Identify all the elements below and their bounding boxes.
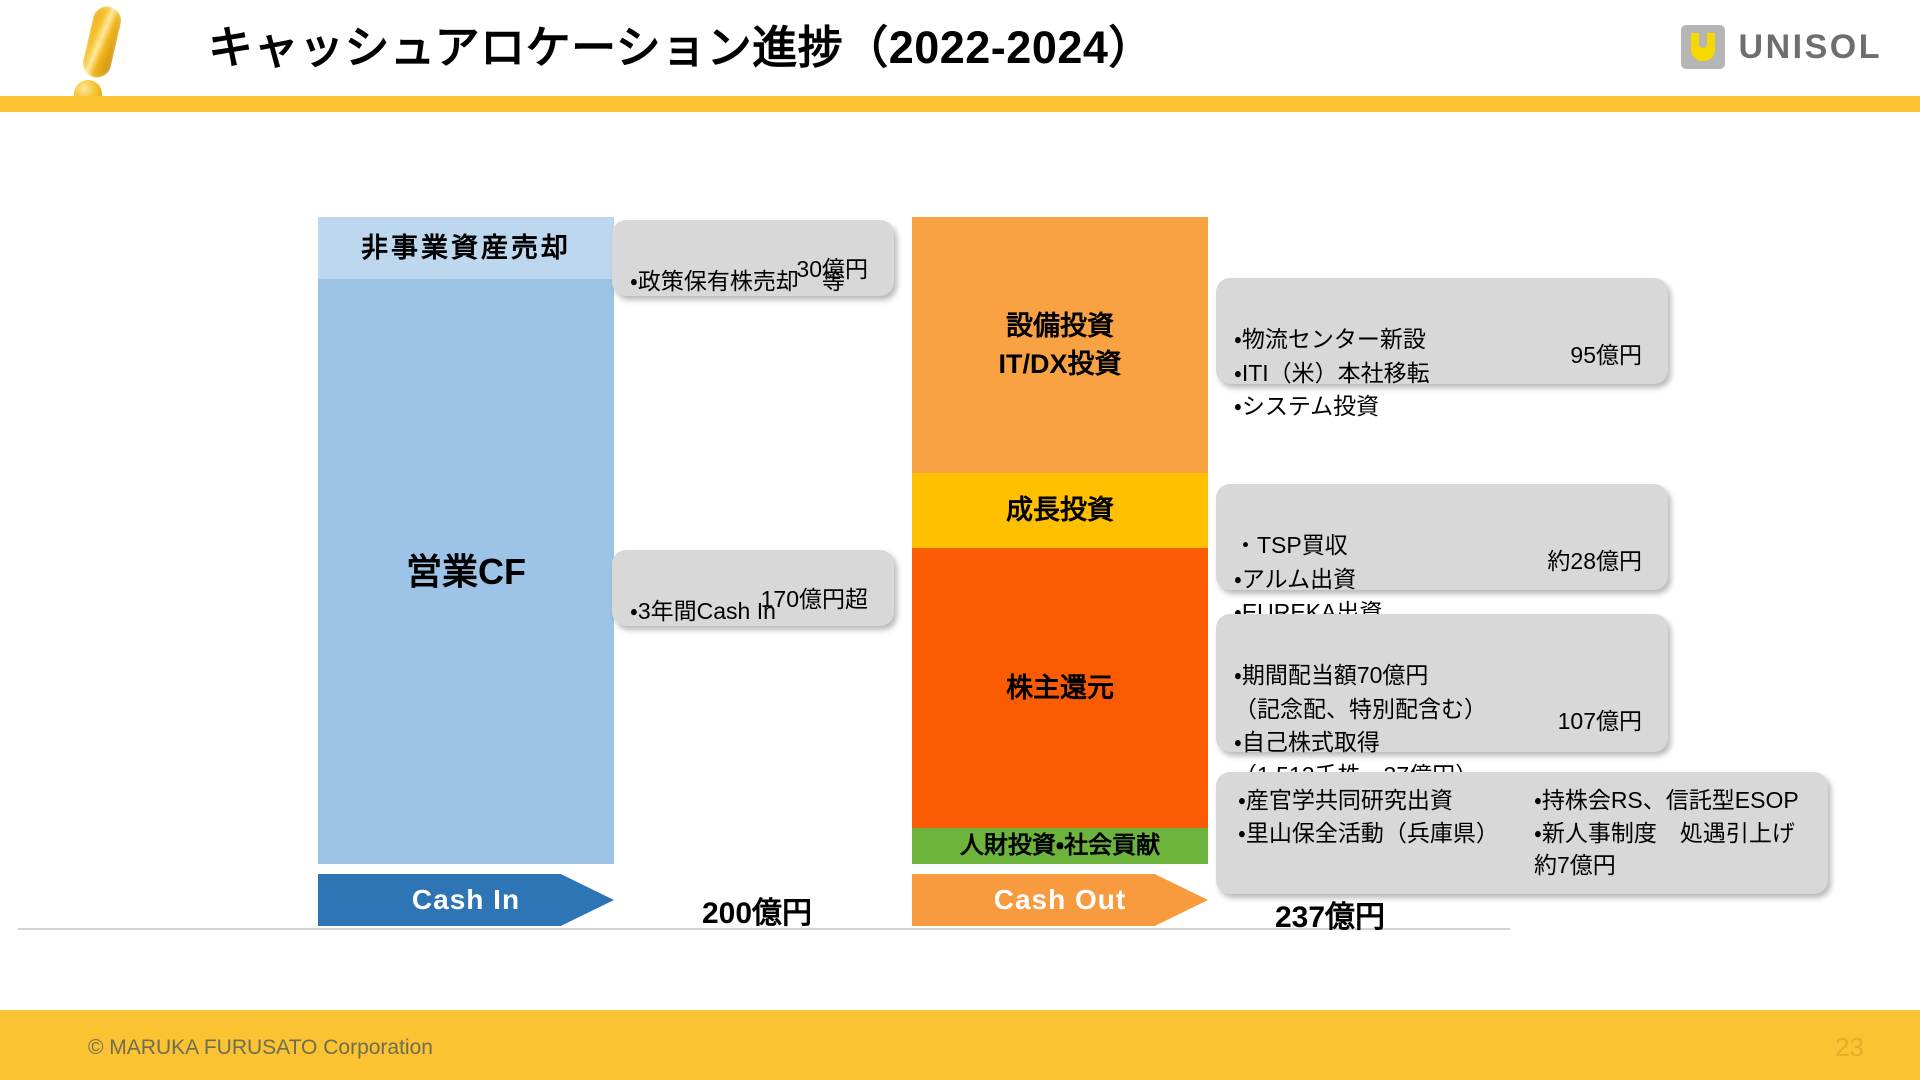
exclamation-mark-icon (62, 4, 148, 108)
segment-human-capital-social: 人財投資・社会貢献 (912, 828, 1208, 864)
callout-growth-investment: ・TSP買収 ・アルム出資 ・EUREKA出資 約28億円 (1216, 484, 1668, 590)
segment-non-business-asset-sale: 非事業資産売却 (318, 217, 614, 279)
unisol-logo-text: UNISOL (1739, 28, 1882, 67)
callout-non-business-asset-sale: ・政策保有株売却 等 30億円 (612, 220, 894, 296)
cash-out-total: 237億円 (1275, 892, 1385, 936)
cash-allocation-chart: 非事業資産売却 営業CF 設備投資 IT/DX投資 成長投資 株主還元 人財投資… (0, 112, 1920, 968)
callout-human-capital-social: ・産官学共同研究出資 ・里山保全活動（兵庫県） ・持株会RS、信託型ESOP ・… (1216, 772, 1828, 894)
callout-human-body-left: ・産官学共同研究出資 ・里山保全活動（兵庫県） (1238, 784, 1499, 851)
page-number: 23 (1835, 1032, 1864, 1063)
cash-in-arrow: Cash In (318, 874, 614, 926)
page-title: キャッシュアロケーション進捗（2022-2024） (208, 16, 1558, 80)
callout-human-amount: 約7億円 (1534, 849, 1616, 882)
segment-operating-cash-flow: 営業CF (318, 279, 614, 864)
callout-human-body-right: ・持株会RS、信託型ESOP ・新人事制度 処遇引上げ (1534, 784, 1799, 851)
callout-capex: ・物流センター新設 ・ITI（米）本社移転 ・システム投資 95億円 (1216, 278, 1668, 384)
callout-capex-amount: 95億円 (1570, 339, 1642, 372)
unisol-logo: UNISOL (1681, 22, 1882, 72)
cash-in-column: 非事業資産売却 営業CF (318, 217, 614, 864)
segment-growth-investment: 成長投資 (912, 473, 1208, 548)
unisol-logo-mark-icon (1681, 25, 1725, 69)
cash-out-column: 設備投資 IT/DX投資 成長投資 株主還元 人財投資・社会貢献 (912, 217, 1208, 864)
callout-growth-amount: 約28億円 (1547, 545, 1642, 578)
logo-u-glyph (1691, 33, 1715, 61)
cash-in-total: 200億円 (702, 888, 812, 932)
copyright-text: © MARUKA FURUSATO Corporation (88, 1036, 433, 1060)
exclamation-bar (80, 4, 123, 80)
slide-header: キャッシュアロケーション進捗（2022-2024） UNISOL (0, 0, 1920, 96)
slide: キャッシュアロケーション進捗（2022-2024） UNISOL 非事業資産売却… (0, 0, 1920, 1080)
cash-out-arrow: Cash Out (912, 874, 1208, 926)
callout-three-year-cash-in: ・3年間Cash In 170億円超 (612, 550, 894, 626)
cash-out-arrow-label: Cash Out (994, 884, 1126, 916)
cash-in-arrow-label: Cash In (412, 884, 520, 916)
callout-shareholder-return: ・期間配当額70億円 （記念配、特別配含む） ・自己株式取得 （1,512千株、… (1216, 614, 1668, 752)
callout-cashin-amount: 170億円超 (761, 583, 868, 616)
segment-shareholder-return: 株主還元 (912, 548, 1208, 828)
callout-return-amount: 107億円 (1558, 705, 1642, 738)
callout-divest-amount: 30億円 (796, 253, 868, 286)
segment-capex-it-dx: 設備投資 IT/DX投資 (912, 217, 1208, 473)
header-divider (0, 96, 1920, 112)
